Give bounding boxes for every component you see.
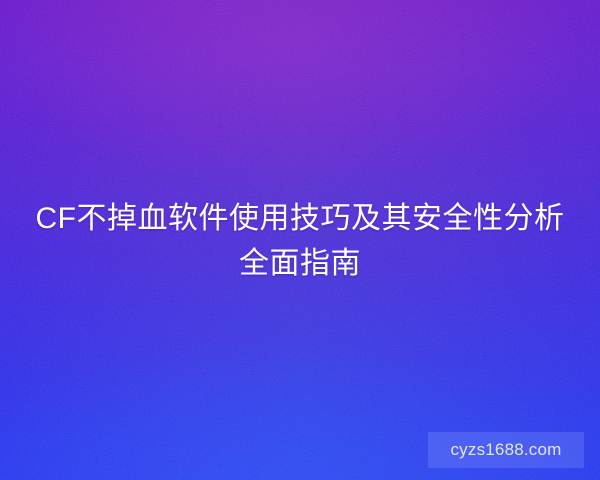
watermark-text: cyzs1688.com xyxy=(450,440,561,460)
watermark-badge: cyzs1688.com xyxy=(428,432,584,468)
title-line-1: CF不掉血软件使用技巧及其安全性分析 xyxy=(0,196,600,241)
banner-image: CF不掉血软件使用技巧及其安全性分析 全面指南 cyzs1688.com xyxy=(0,0,600,480)
title-line-2: 全面指南 xyxy=(0,241,600,286)
page-title: CF不掉血软件使用技巧及其安全性分析 全面指南 xyxy=(0,196,600,286)
